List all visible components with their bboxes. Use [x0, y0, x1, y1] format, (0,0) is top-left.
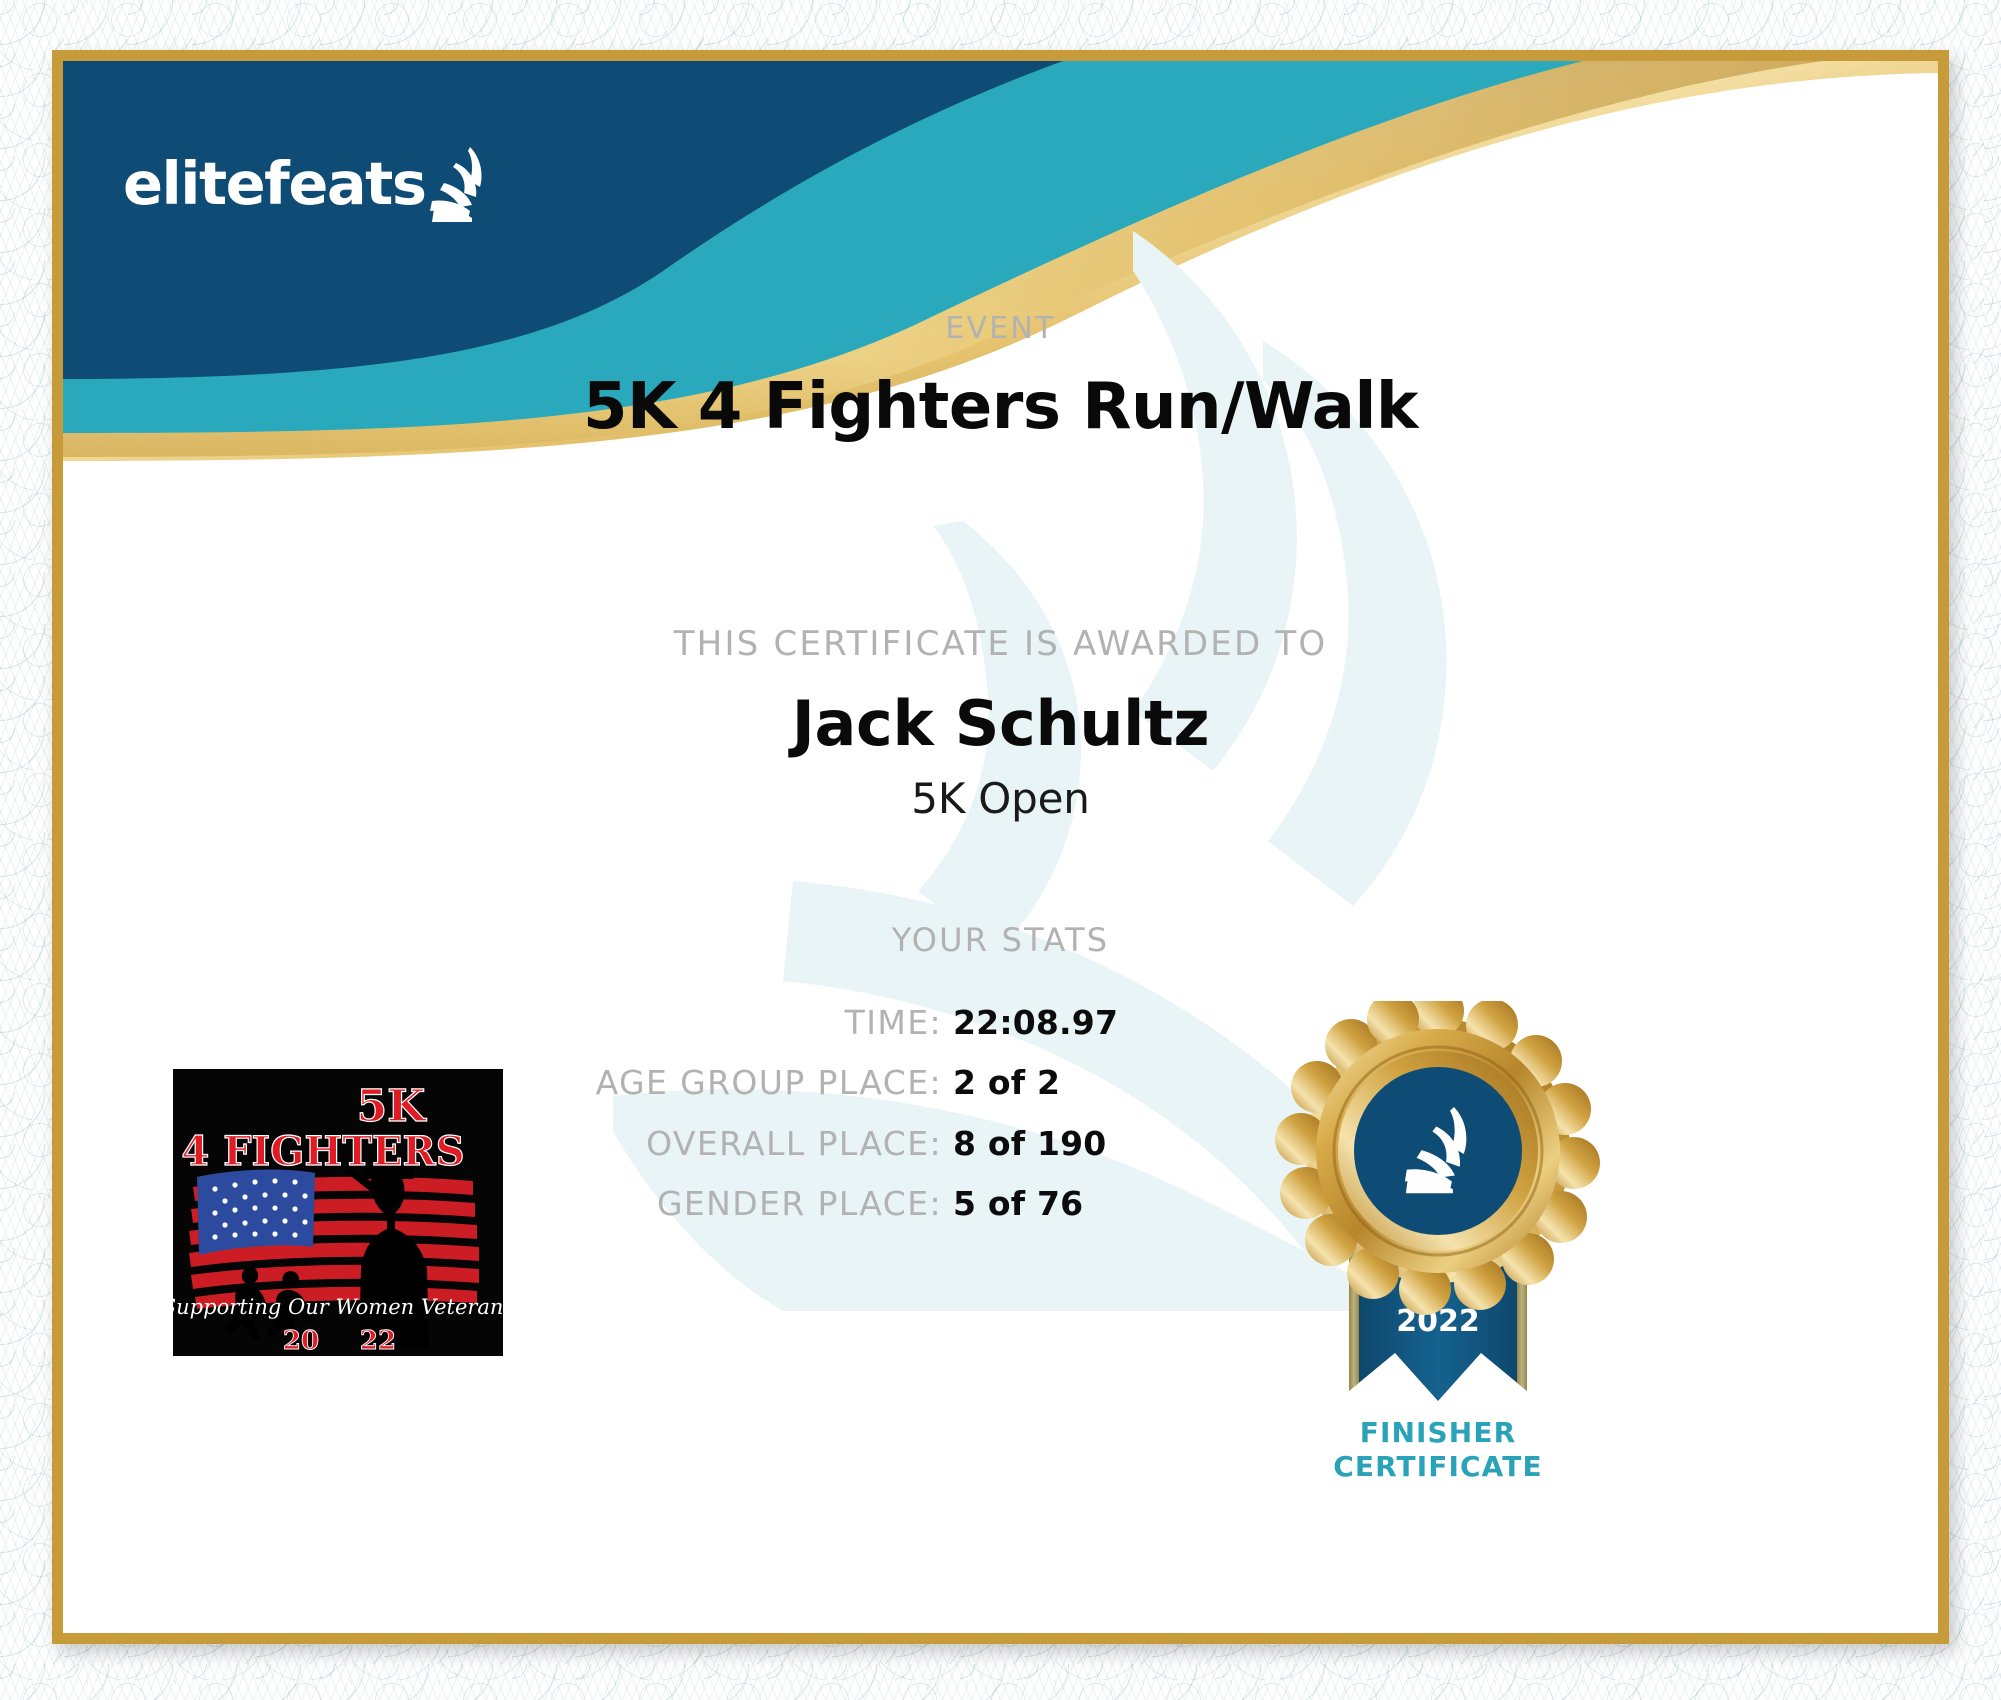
brand-wordmark: elitefeats [123, 154, 426, 213]
recipient-name: Jack Schultz [63, 688, 1938, 759]
logo-year-left: 20 [283, 1326, 319, 1356]
awarded-to-label: THIS CERTIFICATE IS AWARDED TO [63, 624, 1938, 664]
finisher-caption-line2: CERTIFICATE [1223, 1450, 1653, 1484]
certificate-inner: elitefeats EVENT 5K 4 Fighters Run/Walk … [63, 61, 1938, 1633]
stat-value: 5 of 76 [953, 1182, 1083, 1227]
stat-row-time: TIME: 22:08.97 [63, 1001, 1938, 1046]
finisher-medal-badge: 2022 [1273, 1001, 1603, 1451]
logo-title-main: 4 FIGHTERS [181, 1128, 464, 1175]
stat-key: TIME: [63, 1001, 953, 1046]
certificate-card: elitefeats EVENT 5K 4 Fighters Run/Walk … [52, 50, 1949, 1644]
finisher-caption-line1: FINISHER [1223, 1416, 1653, 1450]
logo-title-top: 5K [357, 1081, 428, 1132]
stat-value: 2 of 2 [953, 1061, 1060, 1106]
logo-tagline: Supporting Our Women Veterans [173, 1295, 503, 1319]
stat-value: 8 of 190 [953, 1122, 1106, 1167]
elitefeats-logo: elitefeats [123, 139, 496, 228]
event-label: EVENT [63, 311, 1938, 346]
winged-foot-icon [426, 143, 496, 228]
division-name: 5K Open [63, 774, 1938, 823]
event-logo-image: 5K 4 FIGHTERS Supporting Our Women Veter… [173, 1069, 503, 1356]
event-name: 5K 4 Fighters Run/Walk [63, 372, 1938, 442]
finisher-caption: FINISHER CERTIFICATE [1223, 1416, 1653, 1483]
your-stats-label: YOUR STATS [63, 921, 1938, 959]
stat-value: 22:08.97 [953, 1001, 1118, 1046]
logo-year-right: 22 [360, 1326, 396, 1356]
